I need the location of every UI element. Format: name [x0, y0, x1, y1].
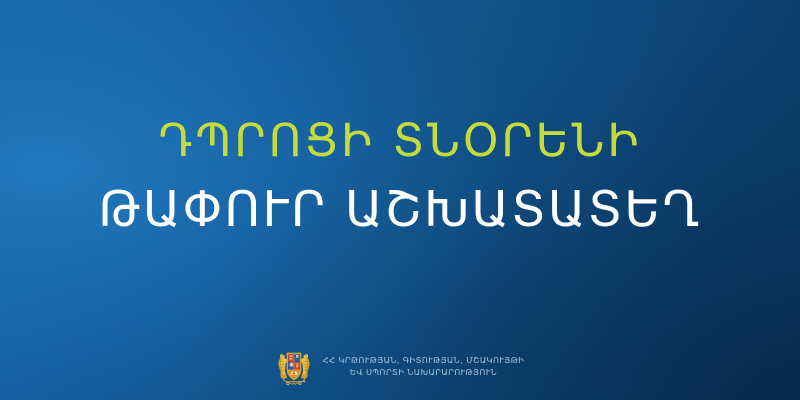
vacancy-banner: ԴՊՐՈՑԻ ՏՆՕՐԵՆԻ ԹԱՓՈՒՐ ԱՇԽԱՏԱՏԵՂ: [0, 0, 800, 400]
headline-line-1: ԴՊՐՈՑԻ ՏՆՕՐԵՆԻ: [0, 118, 800, 163]
banner-content: ԴՊՐՈՑԻ ՏՆՕՐԵՆԻ ԹԱՓՈՒՐ ԱՇԽԱՏԱՏԵՂ: [0, 0, 800, 400]
headline-line-2: ԹԱՓՈՒՐ ԱՇԽԱՏԱՏԵՂ: [0, 185, 800, 234]
ministry-lockup: ՀՀ ԿՐԹՈՒԹՅԱՆ, ԳԻՏՈՒԹՅԱՆ, ՄՇԱԿՈՒՅԹԻ ԵՎ ՍՊ…: [0, 346, 800, 386]
headline-block: ԴՊՐՈՑԻ ՏՆՕՐԵՆԻ ԹԱՓՈՒՐ ԱՇԽԱՏԱՏԵՂ: [0, 118, 800, 234]
ministry-name-line-1: ՀՀ ԿՐԹՈՒԹՅԱՆ, ԳԻՏՈՒԹՅԱՆ, ՄՇԱԿՈՒՅԹԻ: [323, 355, 525, 365]
armenia-coat-of-arms-icon: [276, 346, 312, 386]
ministry-name: ՀՀ ԿՐԹՈՒԹՅԱՆ, ԳԻՏՈՒԹՅԱՆ, ՄՇԱԿՈՒՅԹԻ ԵՎ ՍՊ…: [323, 355, 525, 378]
ministry-name-line-2: ԵՎ ՍՊՈՐՏԻ ՆԱԽԱՐԱՐՈՒԹՅՈՒՆ: [350, 367, 497, 377]
